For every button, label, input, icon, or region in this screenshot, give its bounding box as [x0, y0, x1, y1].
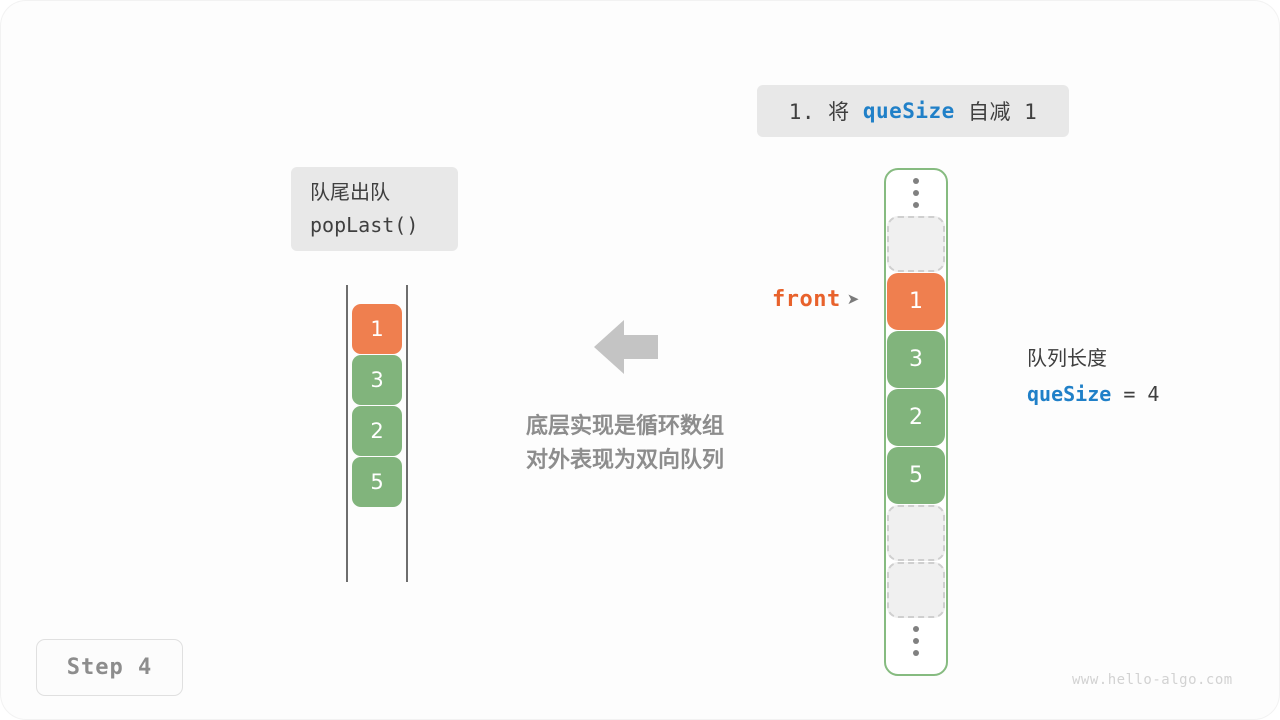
deque-cell: 3: [352, 355, 402, 405]
deque-abstract-view: 1325: [340, 285, 412, 585]
operation-label-line1: 队尾出队: [310, 176, 458, 209]
front-pointer: front ➤: [772, 284, 859, 314]
front-pointer-label: front: [772, 287, 841, 312]
operation-label: 队尾出队 popLast(): [291, 167, 458, 251]
deque-rail-right: [406, 285, 408, 582]
array-cell-list: 1325: [887, 216, 945, 618]
queue-size-expression: queSize = 4: [1027, 376, 1159, 412]
step-description-label: 1. 将 queSize 自减 1: [757, 85, 1069, 137]
step-description-keyword: queSize: [863, 99, 955, 123]
watermark: www.hello-algo.com: [1072, 672, 1233, 688]
step-badge-label: Step 4: [67, 655, 152, 680]
array-top-ellipsis-icon: [913, 170, 919, 216]
array-cell-filled: 3: [887, 331, 945, 388]
deque-cell: 1: [352, 304, 402, 354]
step-badge: Step 4: [36, 639, 183, 696]
queue-size-keyword: queSize: [1027, 382, 1111, 406]
array-cell-empty: [887, 216, 945, 272]
array-cell-empty: [887, 505, 945, 561]
flow-arrow-left-icon: [594, 318, 658, 376]
front-pointer-arrow-icon: ➤: [847, 292, 860, 307]
deque-cell-list: 1325: [352, 304, 402, 507]
array-cell-filled: 5: [887, 447, 945, 504]
deque-rail-left: [346, 285, 348, 582]
queue-size-caption: 队列长度: [1027, 340, 1159, 376]
queue-size-value: = 4: [1111, 382, 1159, 406]
operation-label-line2: popLast(): [310, 209, 458, 242]
diagram-canvas: 1. 将 queSize 自减 1 队尾出队 popLast() 1325 底层…: [0, 0, 1280, 720]
implementation-note-line1: 底层实现是循环数组: [465, 410, 785, 444]
array-bottom-ellipsis-icon: [913, 618, 919, 664]
step-description-prefix: 1. 将: [789, 96, 863, 126]
deque-cell: 5: [352, 457, 402, 507]
watermark-text: www.hello-algo.com: [1072, 672, 1233, 688]
implementation-note-line2: 对外表现为双向队列: [465, 444, 785, 478]
array-cell-filled: 2: [887, 389, 945, 446]
queue-size-info: 队列长度 queSize = 4: [1027, 340, 1159, 412]
deque-cell: 2: [352, 406, 402, 456]
array-cell-filled: 1: [887, 273, 945, 330]
step-description-suffix: 自减 1: [955, 96, 1037, 126]
array-cell-empty: [887, 562, 945, 618]
circular-array-view: 1325: [884, 168, 948, 676]
implementation-note: 底层实现是循环数组 对外表现为双向队列: [465, 410, 785, 478]
